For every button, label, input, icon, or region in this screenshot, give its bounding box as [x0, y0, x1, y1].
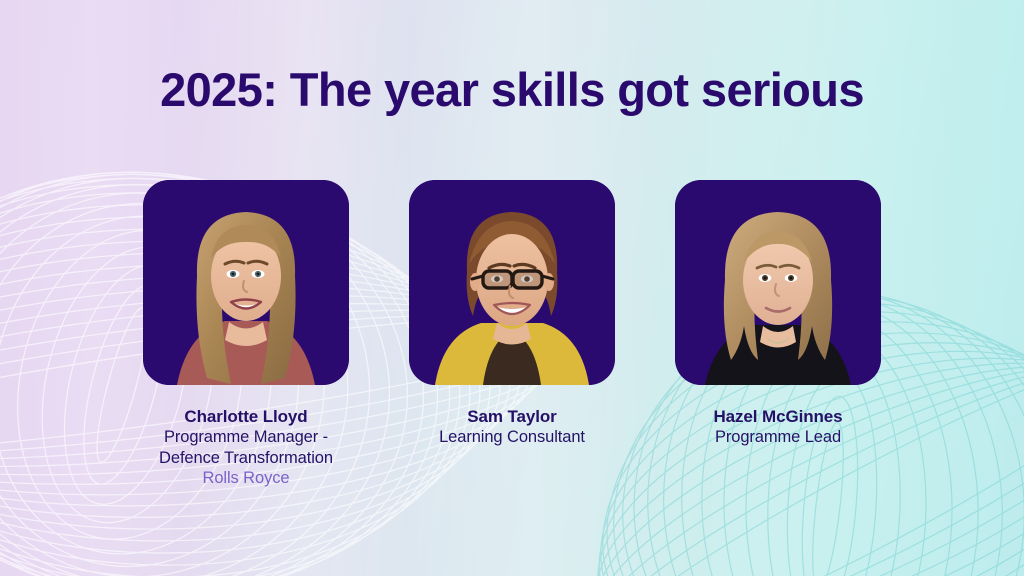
speaker-caption-2: Sam Taylor Learning Consultant [439, 406, 585, 448]
speaker-role: Programme Lead [714, 427, 843, 447]
speaker-name: Charlotte Lloyd [159, 406, 333, 427]
speaker-photo-2 [409, 180, 615, 385]
speaker-photo-3 [675, 180, 881, 385]
speaker-card-3: Hazel McGinnes Programme Lead [674, 180, 882, 448]
speaker-name: Sam Taylor [439, 406, 585, 427]
speaker-organisation: Rolls Royce [159, 468, 333, 488]
speaker-role: Programme Manager - Defence Transformati… [159, 427, 333, 468]
speaker-list: Charlotte Lloyd Programme Manager - Defe… [0, 180, 1024, 488]
presentation-slide: 2025: The year skills got serious [0, 0, 1024, 576]
speaker-caption-1: Charlotte Lloyd Programme Manager - Defe… [159, 406, 333, 488]
speaker-card-1: Charlotte Lloyd Programme Manager - Defe… [142, 180, 350, 488]
speaker-card-2: Sam Taylor Learning Consultant [408, 180, 616, 448]
speaker-caption-3: Hazel McGinnes Programme Lead [714, 406, 843, 448]
page-title: 2025: The year skills got serious [0, 64, 1024, 117]
speaker-photo-1 [143, 180, 349, 385]
speaker-role: Learning Consultant [439, 427, 585, 447]
speaker-name: Hazel McGinnes [714, 406, 843, 427]
